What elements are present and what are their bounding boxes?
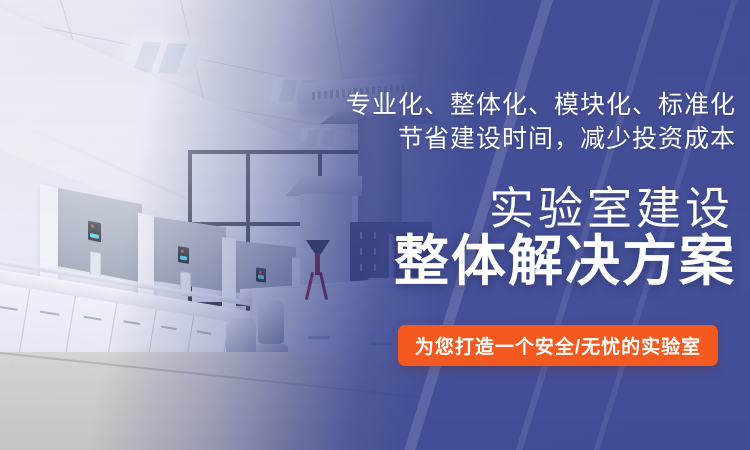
lab-solution-banner: 专业化、整体化、模块化、标准化 节省建设时间，减少投资成本 实验室建设 整体解决… [0,0,750,450]
subtitle-line-2: 节省建设时间，减少投资成本 [398,124,736,154]
headline-bold: 整体解决方案 [394,230,736,292]
hood-control-panel [178,246,189,264]
headline-light: 实验室建设 [489,182,734,236]
hood-control-panel [256,267,266,282]
hood-control-panel [88,221,101,243]
cta-button[interactable]: 为您打造一个安全/无忧的实验室 [398,325,718,366]
hood-pillar [222,237,236,317]
banner-copy-block: 专业化、整体化、模块化、标准化 节省建设时间，减少投资成本 实验室建设 整体解决… [316,0,736,450]
subtitle-line-1: 专业化、整体化、模块化、标准化 [346,90,736,120]
